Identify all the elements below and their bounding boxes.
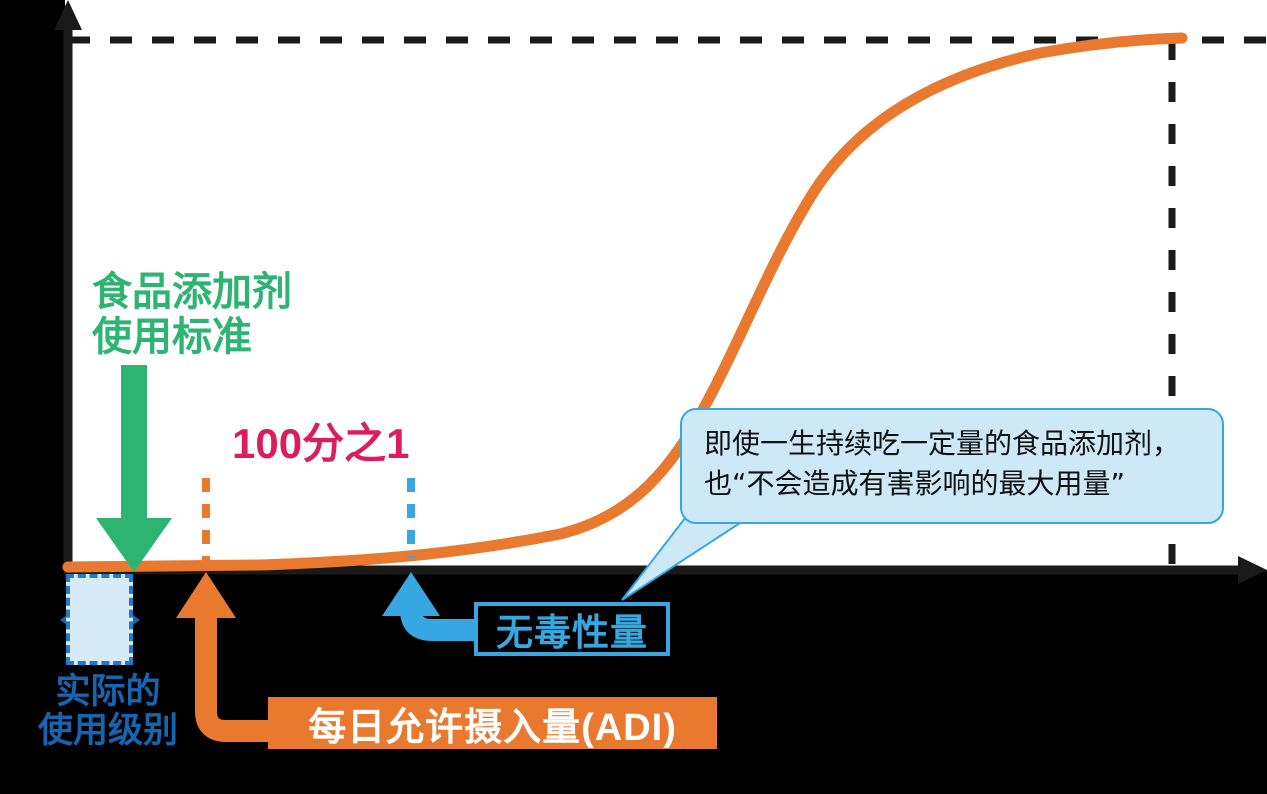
vector-layer: [0, 0, 1267, 794]
callout-bubble: 即使一生持续吃一定量的食品添加剂， 也“不会造成有害影响的最大用量”: [680, 408, 1224, 524]
nontoxic-arrowhead: [382, 572, 440, 616]
actual-usage-label: 实际的 使用级别: [38, 672, 178, 750]
ratio-label: 100分之1: [232, 420, 409, 467]
standard-down-arrow: [96, 365, 172, 572]
actual-usage-band: [66, 574, 133, 665]
nontoxic-dose-box: 无毒性量: [474, 602, 670, 656]
x-axis-arrowhead: [1238, 556, 1267, 584]
adi-elbow-arrow: [206, 600, 268, 731]
adi-label: 每日允许摄入量(ADI): [308, 696, 677, 751]
adi-box: 每日允许摄入量(ADI): [268, 697, 717, 749]
callout-text: 即使一生持续吃一定量的食品添加剂， 也“不会造成有害影响的最大用量”: [704, 424, 1202, 504]
standard-label: 食品添加剂 使用标准: [92, 270, 292, 360]
adi-arrowhead: [176, 572, 236, 618]
diagram-canvas: 食品添加剂 使用标准 100分之1 实际的 使用级别 无毒性量 每日允许摄入量(…: [0, 0, 1267, 794]
y-axis-arrowhead: [54, 0, 82, 30]
nontoxic-dose-label: 无毒性量: [496, 602, 648, 656]
